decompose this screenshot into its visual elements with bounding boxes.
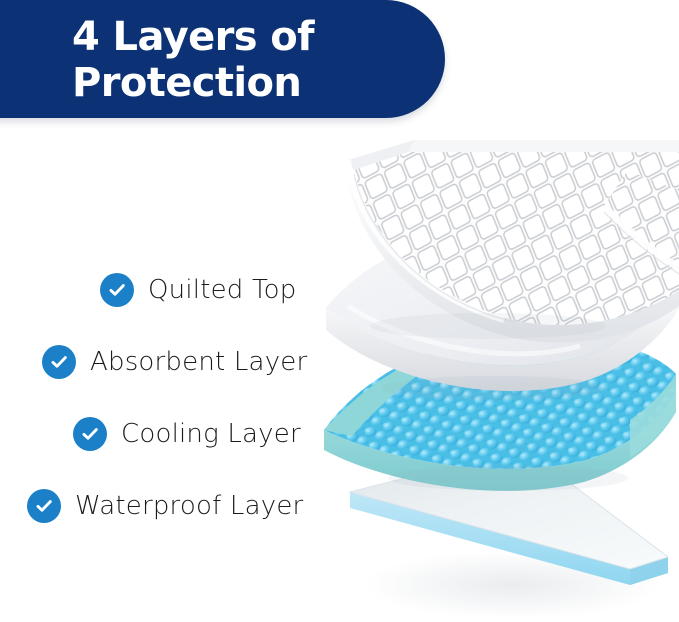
list-item: Waterproof Layer	[27, 486, 303, 526]
header-banner: 4 Layers of Protection	[0, 0, 445, 118]
check-circle-icon	[100, 273, 134, 307]
list-item: Quilted Top	[100, 270, 296, 310]
list-item-label: Absorbent Layer	[90, 347, 307, 377]
shadow-between-gel-and-waterproof	[388, 465, 628, 491]
list-item-label: Cooling Layer	[121, 419, 301, 449]
check-circle-icon	[27, 489, 61, 523]
list-item-label: Quilted Top	[148, 275, 296, 305]
list-item: Cooling Layer	[73, 414, 301, 454]
list-item-label: Waterproof Layer	[75, 491, 303, 521]
shadow-between-quilt-and-absorbent	[370, 313, 606, 339]
four-layer-mattress-pad-exploded-view	[318, 130, 679, 622]
shadow-between-absorbent-and-gel	[382, 376, 606, 400]
page-title: 4 Layers of Protection	[72, 14, 402, 106]
check-circle-icon	[73, 417, 107, 451]
check-circle-icon	[42, 345, 76, 379]
four-layers-of-protection-infographic: 4 Layers of Protection Quilted Top Absor…	[0, 0, 679, 622]
list-item: Absorbent Layer	[42, 342, 307, 382]
